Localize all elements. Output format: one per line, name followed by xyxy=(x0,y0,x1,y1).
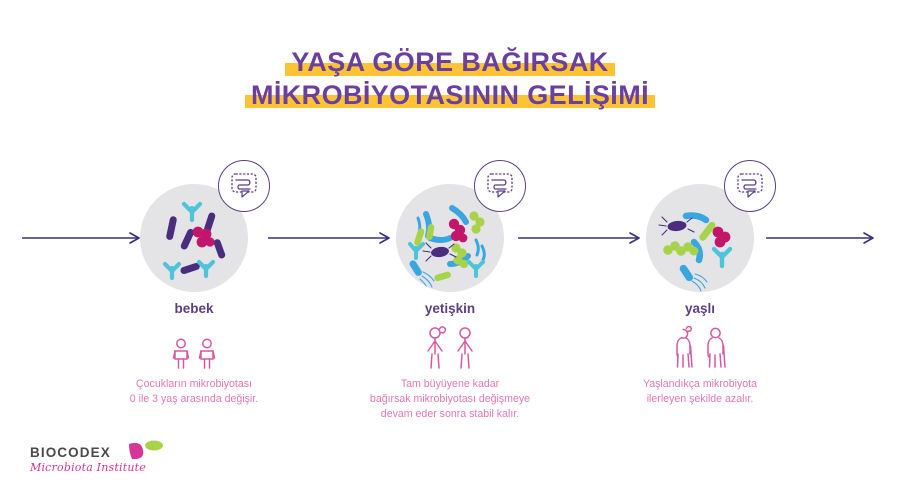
logo-mark-icon xyxy=(127,440,167,462)
stage-yetiskin[interactable]: yetişkin Tam büyüyene kadar bağırsak mik… xyxy=(340,184,560,422)
logo-wordmark: BIOCODEX xyxy=(30,446,210,460)
adult-figures-icon xyxy=(340,324,560,370)
gut-badge-yetiskin xyxy=(474,160,526,212)
stage-bebek[interactable]: bebek Çocukların mikrobiyotası 0 ile 3 y… xyxy=(84,184,304,407)
caption-line: Yaşlandıkça mikrobiyota xyxy=(590,377,810,392)
stage-bebek-label: bebek xyxy=(84,301,304,316)
intestine-icon xyxy=(483,169,517,203)
caption-line: devam eder sonra stabil kalır. xyxy=(340,407,560,422)
caption-line: bağırsak mikrobiyotası değişmeye xyxy=(340,392,560,407)
title-line-1-text: YAŞA GÖRE BAĞIRSAK xyxy=(285,48,614,77)
intestine-icon xyxy=(733,169,767,203)
caption-line: Çocukların mikrobiyotası xyxy=(84,377,304,392)
gut-badge-yasli xyxy=(724,160,776,212)
stage-bebek-circle-wrap xyxy=(140,184,248,292)
flagellated-bacterium xyxy=(423,243,456,261)
caption-line: Tam büyüyene kadar xyxy=(340,377,560,392)
stage-yetiskin-caption: Tam büyüyene kadar bağırsak mikrobiyotas… xyxy=(340,377,560,422)
stage-yasli-circle-wrap xyxy=(646,184,754,292)
elderly-figures-icon xyxy=(590,324,810,370)
stage-yetiskin-label: yetişkin xyxy=(340,301,560,316)
gut-badge-bebek xyxy=(218,160,270,212)
stage-yasli-caption: Yaşlandıkça mikrobiyota ilerleyen şekild… xyxy=(590,377,810,407)
title-line-2-text: MİKROBİYOTASININ GELİŞİMİ xyxy=(245,81,655,110)
intestine-icon xyxy=(227,169,261,203)
stage-yetiskin-circle-wrap xyxy=(396,184,504,292)
caption-line: 0 ile 3 yaş arasında değişir. xyxy=(84,392,304,407)
child-figures-icon xyxy=(84,324,304,370)
stage-bebek-caption: Çocukların mikrobiyotası 0 ile 3 yaş ara… xyxy=(84,377,304,407)
biocodex-logo: BIOCODEX Microbiota Institute xyxy=(30,446,210,473)
stage-yasli[interactable]: yaşlı Yaşlandıkça mikrobiyota ilerleyen … xyxy=(590,184,810,407)
caption-line: ilerleyen şekilde azalır. xyxy=(590,392,810,407)
flagellated-bacterium xyxy=(659,217,694,235)
stage-yasli-label: yaşlı xyxy=(590,301,810,316)
logo-tagline: Microbiota Institute xyxy=(30,462,210,473)
